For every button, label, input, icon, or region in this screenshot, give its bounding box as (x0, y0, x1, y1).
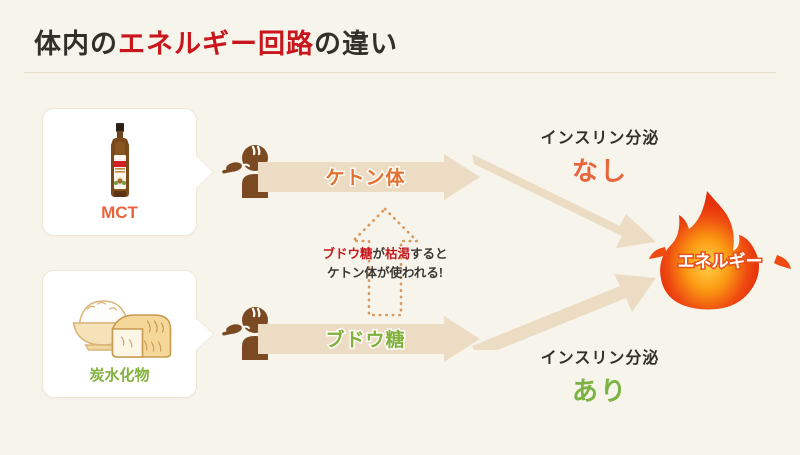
mct-oil-bottle-icon (43, 119, 196, 201)
insulin-label: インスリン分泌 (505, 344, 695, 368)
note-red-1: ブドウ糖 (322, 247, 372, 261)
title-divider (24, 72, 776, 73)
pathway-band-label-glucose: ブドウ糖 (258, 325, 473, 352)
title-part-2: の違い (314, 29, 398, 59)
insulin-status-ketone: インスリン分泌 なし (505, 124, 695, 188)
note-line-2: ケトン体が使われる! (300, 264, 470, 283)
card-tail-icon (196, 156, 213, 188)
pathway-band-glucose: ブドウ糖 (258, 316, 480, 367)
pathway-band-ketone: ケトン体 (258, 154, 480, 205)
note-line-1: ブドウ糖が枯渇すると (300, 245, 470, 264)
source-card-label-carbohydrate: 炭水化物 (43, 364, 196, 385)
note-tail: すると (410, 247, 448, 261)
card-tail-icon (196, 318, 213, 350)
pathway-band-label-ketone: ケトン体 (258, 163, 473, 190)
rice-bowl-and-bread-icon (43, 281, 196, 363)
title-part-1: 体内の (34, 29, 118, 59)
source-card-label-mct: MCT (43, 203, 196, 223)
energy-label: エネルギー (645, 247, 795, 272)
note-red-2: 枯渇 (385, 247, 410, 261)
source-card-mct: MCT (42, 108, 197, 236)
ketone-switch-note: ブドウ糖が枯渇すると ケトン体が使われる! (300, 205, 470, 317)
insulin-value: あり (505, 371, 695, 408)
note-mid: が (372, 247, 385, 261)
ketone-switch-note-text: ブドウ糖が枯渇すると ケトン体が使われる! (300, 245, 470, 284)
insulin-label: インスリン分泌 (505, 124, 695, 148)
infographic-canvas: 体内のエネルギー回路の違い MCT (0, 0, 800, 455)
insulin-value: なし (505, 151, 695, 188)
page-title: 体内のエネルギー回路の違い (34, 22, 398, 61)
source-card-carbohydrate: 炭水化物 (42, 270, 197, 398)
title-accent: エネルギー回路 (118, 29, 314, 59)
energy-result: エネルギー (645, 185, 795, 320)
insulin-status-glucose: インスリン分泌 あり (505, 344, 695, 408)
